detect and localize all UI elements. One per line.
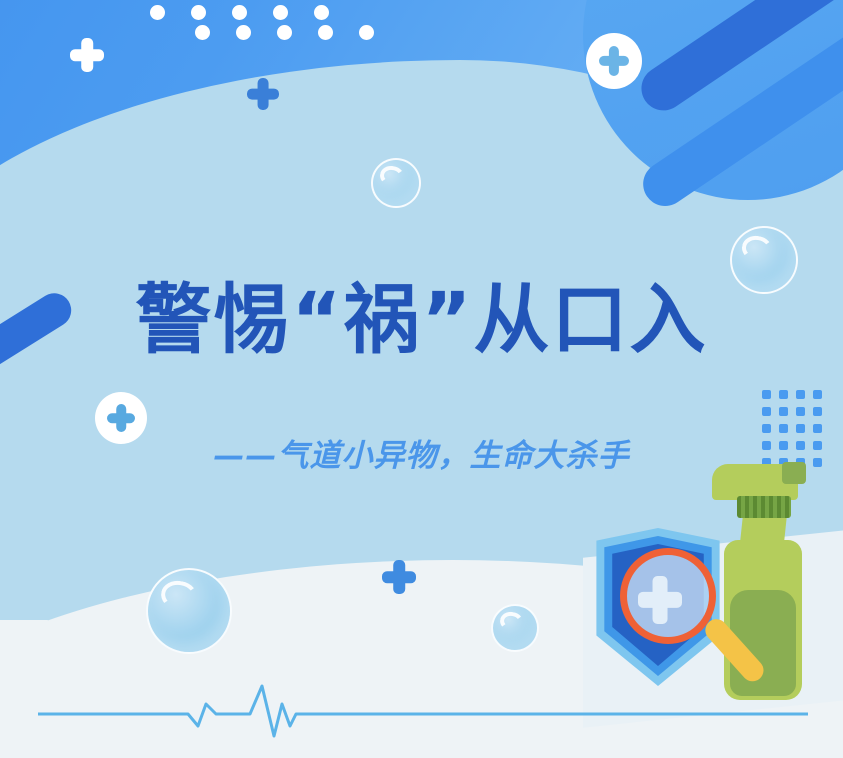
grid-dot: [813, 390, 822, 399]
dot-row-top: [150, 5, 329, 20]
medical-cross-icon: [107, 404, 135, 432]
bubble-decoration: [146, 568, 232, 654]
dot: [191, 5, 206, 20]
bubble-decoration: [491, 604, 539, 652]
medical-cross-icon: [70, 38, 104, 72]
dot: [150, 5, 165, 20]
grid-dot: [813, 407, 822, 416]
dot: [273, 5, 288, 20]
dot: [277, 25, 292, 40]
dot-row-bottom: [195, 25, 374, 40]
poster-canvas: 警惕“祸”从口入 ——气道小异物，生命大杀手: [0, 0, 843, 758]
magnifier-icon: [620, 548, 716, 644]
grid-dot: [796, 390, 805, 399]
grid-dot: [779, 390, 788, 399]
grid-dot: [762, 390, 771, 399]
spray-nozzle: [782, 462, 806, 484]
cross-badge-icon: [586, 33, 642, 89]
grid-dot: [796, 407, 805, 416]
dot: [236, 25, 251, 40]
dot: [318, 25, 333, 40]
ecg-heartbeat-line: [38, 680, 808, 740]
illustration-group: [586, 450, 836, 700]
grid-dot: [762, 407, 771, 416]
grid-dot: [779, 407, 788, 416]
dot: [232, 5, 247, 20]
magnifier-lens: [620, 548, 716, 644]
medical-cross-icon: [599, 46, 629, 76]
poster-title: 警惕“祸”从口入: [0, 258, 843, 368]
bubble-decoration: [371, 158, 421, 208]
dot: [195, 25, 210, 40]
shield-illustration: [588, 528, 728, 688]
medical-cross-icon: [247, 78, 279, 110]
medical-cross-icon: [382, 560, 416, 594]
dot: [314, 5, 329, 20]
dot: [359, 25, 374, 40]
spray-bottle-collar: [737, 496, 791, 518]
